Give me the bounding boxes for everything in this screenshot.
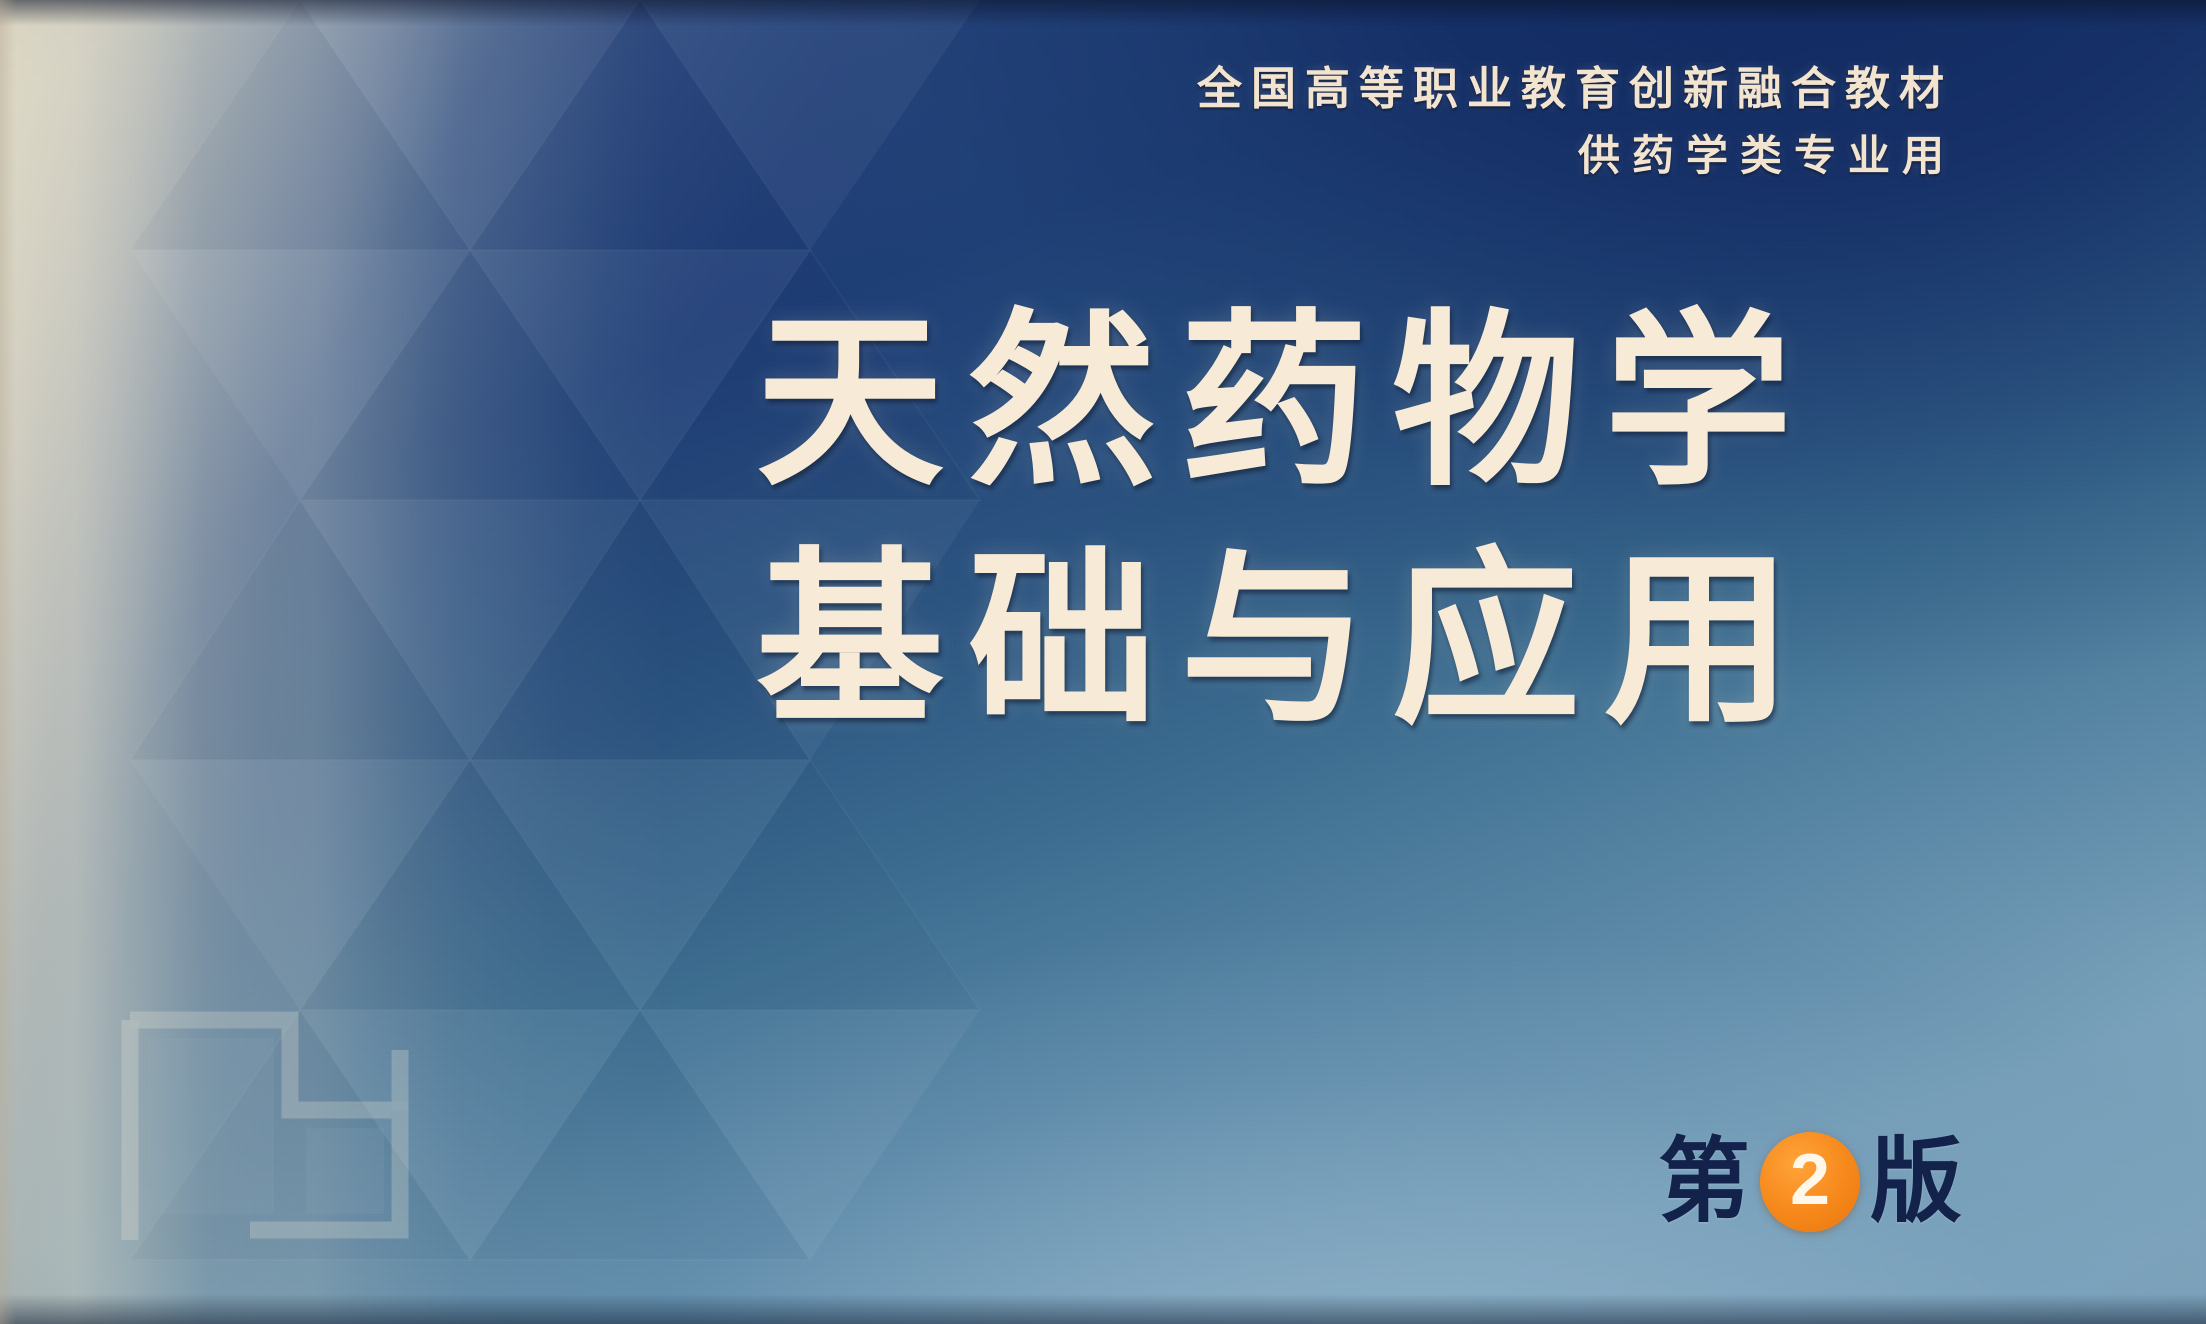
bottom-edge-shadow bbox=[0, 1294, 2206, 1324]
top-edge-shadow bbox=[0, 0, 2206, 26]
book-cover: 全国高等职业教育创新融合教材 供药学类专业用 天然药物学 基础与应用 第 2 版 bbox=[0, 0, 2206, 1324]
edition-number-badge: 2 bbox=[1760, 1132, 1860, 1232]
series-line-primary: 全国高等职业教育创新融合教材 bbox=[1197, 62, 1953, 115]
edition-number: 2 bbox=[1790, 1144, 1830, 1216]
edition-marker: 第 2 版 bbox=[1658, 1132, 1962, 1232]
book-title-line-2: 基础与应用 bbox=[756, 544, 1816, 740]
left-edge-highlight bbox=[0, 0, 16, 1324]
edition-prefix: 第 bbox=[1658, 1136, 1750, 1228]
book-title-block: 天然药物学 基础与应用 bbox=[756, 306, 1816, 739]
series-line-secondary: 供药学类专业用 bbox=[1197, 131, 1956, 181]
book-title-line-1: 天然药物学 bbox=[756, 306, 1816, 502]
stepped-maze-motif bbox=[100, 990, 530, 1324]
series-label-block: 全国高等职业教育创新融合教材 供药学类专业用 bbox=[1197, 62, 1944, 181]
edition-suffix: 版 bbox=[1870, 1136, 1962, 1228]
